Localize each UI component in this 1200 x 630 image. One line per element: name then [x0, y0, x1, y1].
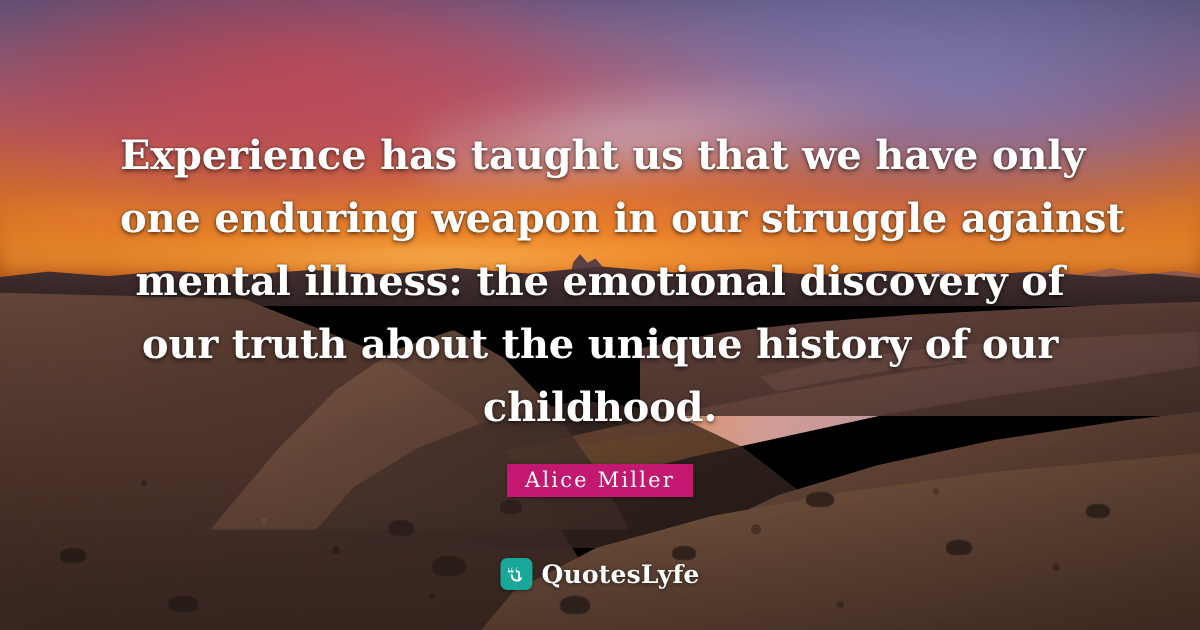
- quote-line: childhood.: [120, 376, 1080, 439]
- quote-line: one enduring weapon in our struggle agai…: [120, 187, 1080, 250]
- brand-logo[interactable]: QuotesLyfe: [500, 558, 699, 590]
- quote-card: Experience has taught us that we have on…: [0, 0, 1200, 630]
- quote-smiley-icon: [500, 558, 532, 590]
- brand-name: QuotesLyfe: [541, 560, 699, 589]
- quote-line: Experience has taught us that we have on…: [120, 124, 1080, 187]
- quote-text: Experience has taught us that we have on…: [0, 124, 1200, 439]
- quote-line: our truth about the unique history of ou…: [120, 313, 1080, 376]
- card-content: Experience has taught us that we have on…: [0, 0, 1200, 630]
- author-badge[interactable]: Alice Miller: [507, 464, 693, 497]
- quote-line: mental illness: the emotional discovery …: [120, 250, 1080, 313]
